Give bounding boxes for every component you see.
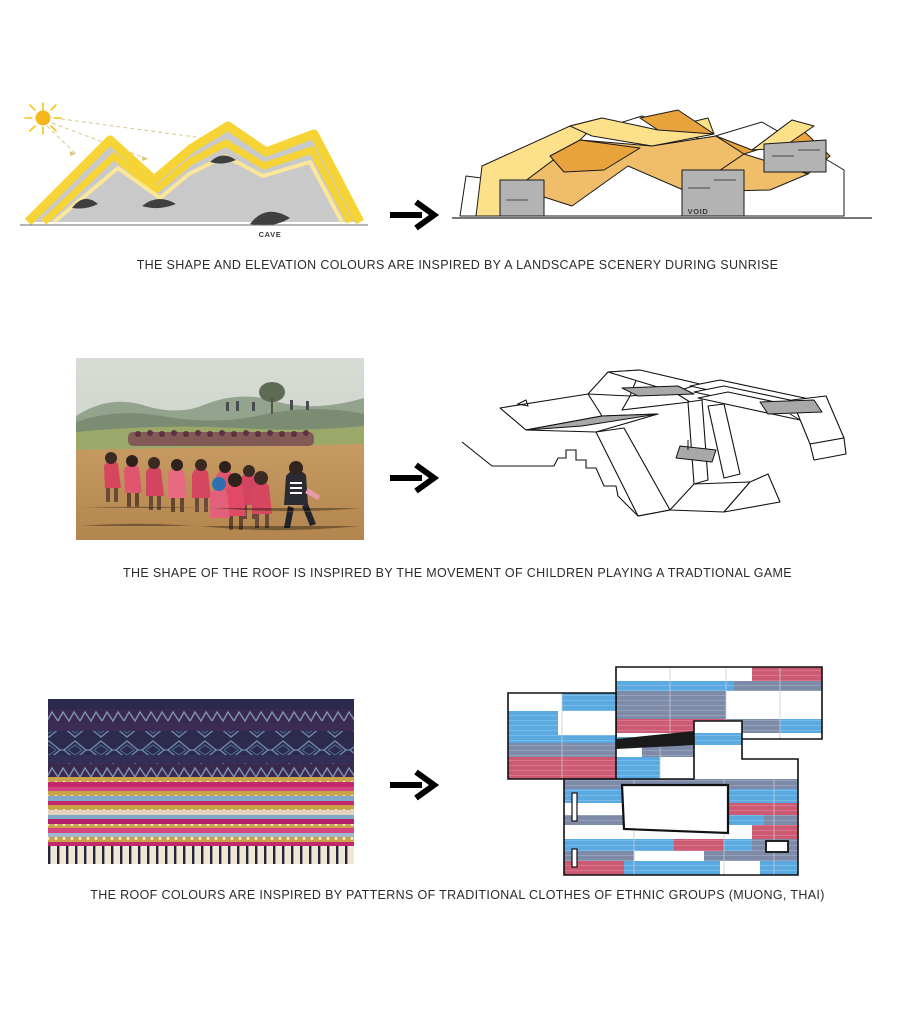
arrow-right-icon <box>386 762 444 808</box>
textile-photo <box>36 695 366 867</box>
roof-courtyard-void <box>622 785 728 833</box>
arrow-right-icon <box>386 192 444 238</box>
cave-label: CAVE <box>259 230 282 239</box>
landscape-illustration: CAVE <box>14 96 374 246</box>
arrow-right-icon <box>386 455 444 501</box>
concept-board: CAVE <box>0 0 915 1024</box>
roof-block-left <box>508 693 616 779</box>
caption-roof-colours: THE ROOF COLOURS ARE INSPIRED BY PATTERN… <box>0 888 915 902</box>
roof-skylight <box>766 841 788 852</box>
caption-roof-shape: THE SHAPE OF THE ROOF IS INSPIRED BY THE… <box>0 566 915 580</box>
roof-plan <box>484 645 884 885</box>
roof-slot-lower <box>572 849 577 867</box>
row-textile-roofplan <box>0 645 915 920</box>
caption-landscape: THE SHAPE AND ELEVATION COLOURS ARE INSP… <box>0 258 915 272</box>
roof-slot-upper <box>572 793 577 821</box>
children-photo <box>76 358 364 540</box>
elevation-drawing: VOID <box>452 96 872 236</box>
sun-icon <box>25 103 61 134</box>
void-label: VOID <box>688 207 709 216</box>
roof-wireframe <box>462 362 862 522</box>
row-children-roof <box>0 348 915 598</box>
